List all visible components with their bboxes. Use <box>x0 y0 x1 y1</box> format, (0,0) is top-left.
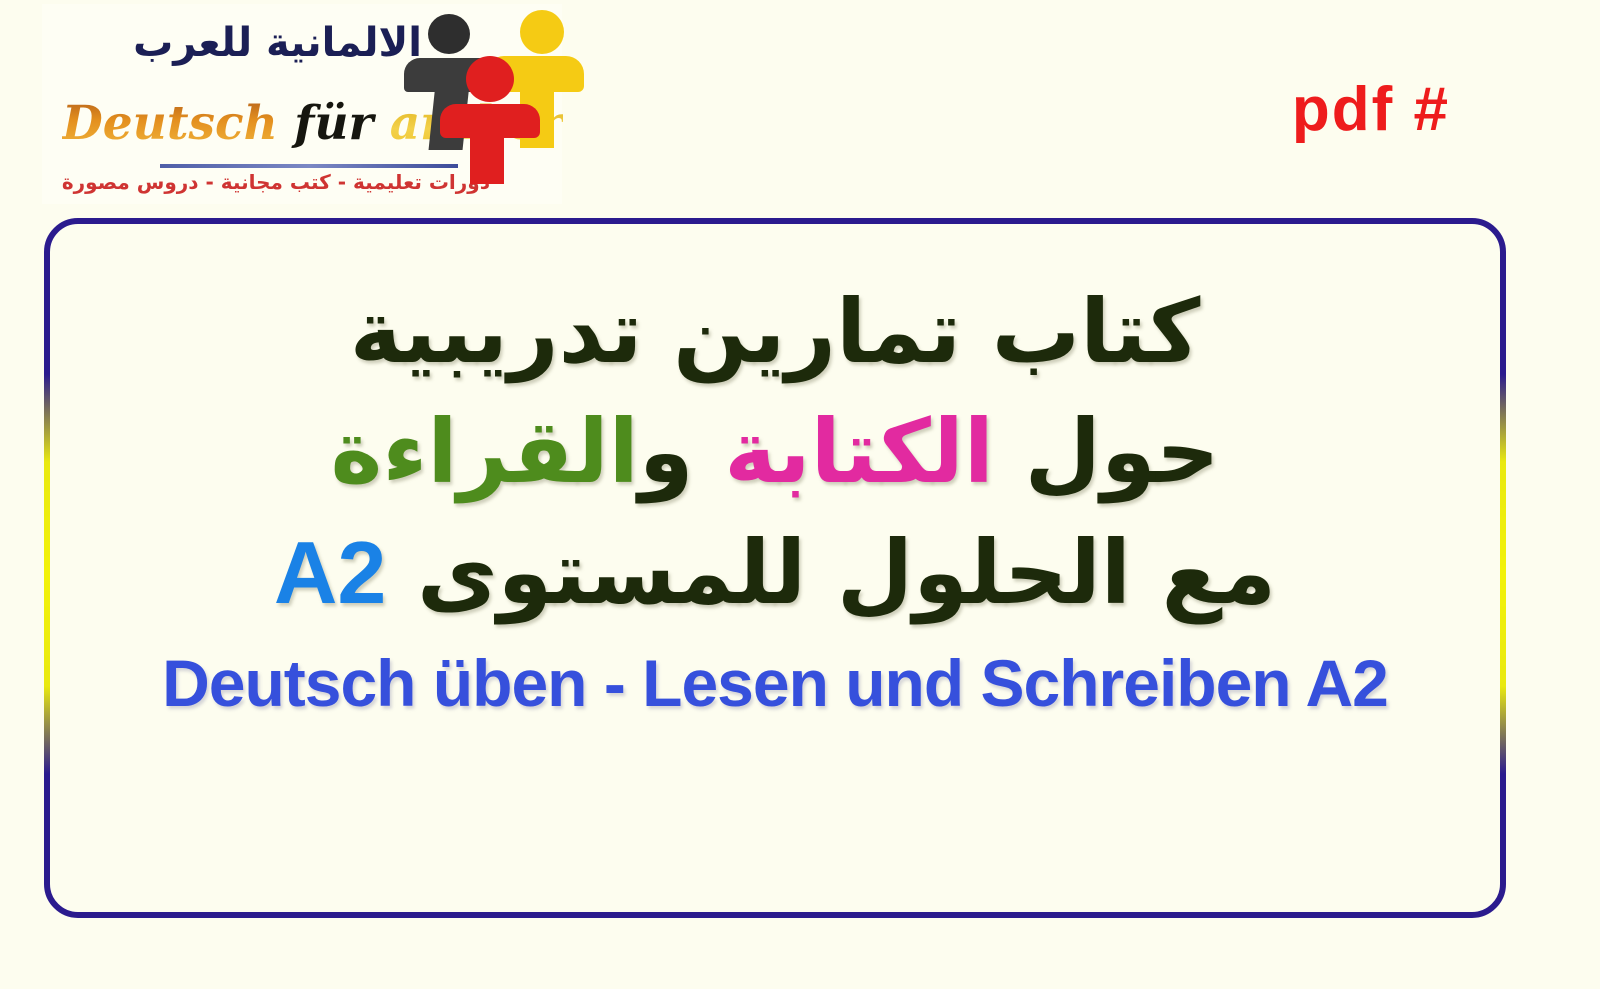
title-line-1: كتاب تمارين تدريبية <box>350 286 1201 378</box>
card-edge-highlight-right <box>1500 374 1506 774</box>
german-subtitle: Deutsch üben - Lesen und Schreiben A2 <box>162 645 1388 721</box>
title-line-2-token-4: القراءة <box>330 400 638 503</box>
title-card-content: كتاب تمارين تدريبية حول الكتابة والقراءة… <box>50 224 1500 912</box>
title-line-2: حول الكتابة والقراءة <box>330 406 1219 498</box>
title-card: كتاب تمارين تدريبية حول الكتابة والقراءة… <box>44 218 1506 918</box>
title-line-2-token-1: حول <box>994 400 1220 503</box>
title-line-3-token-1: مع الحلول للمستوى <box>386 521 1276 624</box>
poster-header: الالمانية للعرب Deutsch für araber دورات… <box>0 0 1600 210</box>
three-figures-icon <box>404 6 564 184</box>
brand-word-fuer: für <box>294 96 373 151</box>
title-line-2-token-3: و <box>639 400 724 503</box>
pdf-tag-label: pdf # <box>1292 74 1450 145</box>
title-line-2-token-2: الكتابة <box>724 400 994 503</box>
title-line-3: مع الحلول للمستوى A2 <box>274 527 1276 619</box>
poster-page: الالمانية للعرب Deutsch für araber دورات… <box>0 0 1600 989</box>
brand-logo[interactable]: الالمانية للعرب Deutsch für araber دورات… <box>42 4 562 204</box>
brand-arabic-name: الالمانية للعرب <box>133 20 422 66</box>
brand-word-deutsch: Deutsch <box>62 96 278 151</box>
title-line-1-token-1: كتاب تمارين تدريبية <box>350 280 1201 383</box>
title-line-3-level-badge: A2 <box>274 523 387 622</box>
